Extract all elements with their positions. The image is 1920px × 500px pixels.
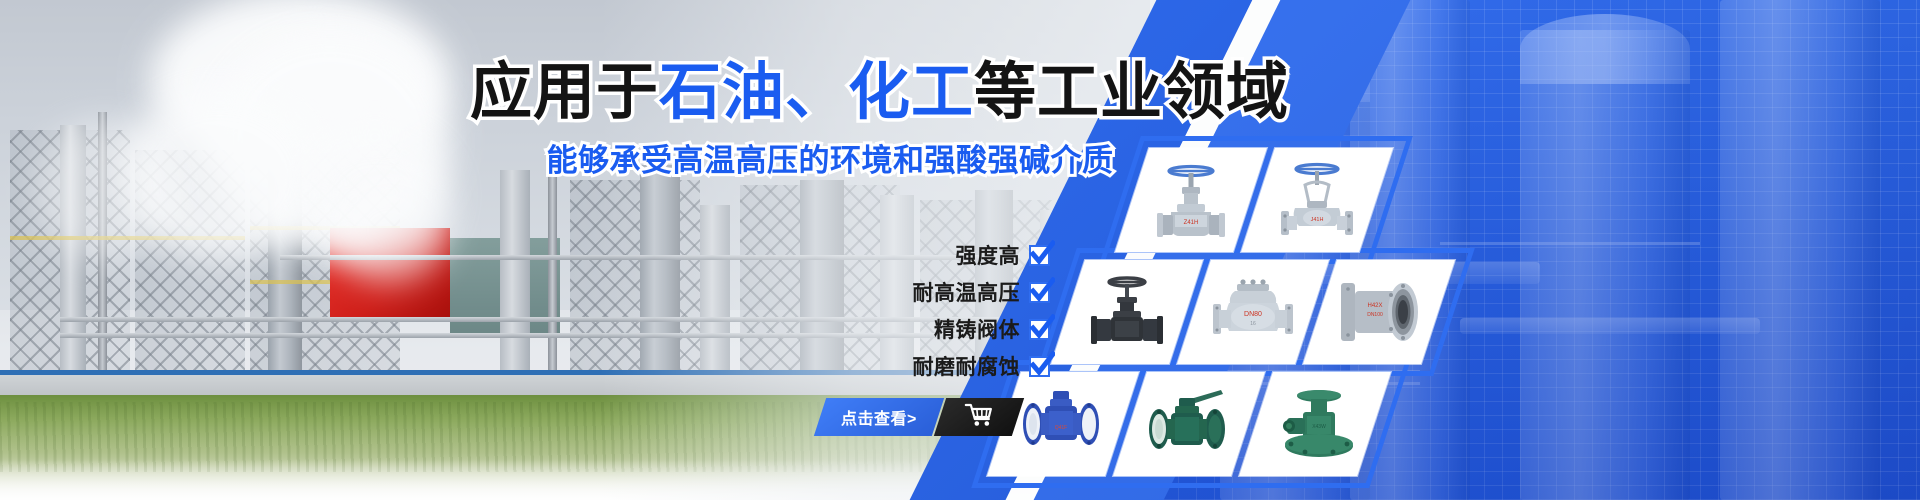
feature-item: 强度高 [820, 240, 1050, 270]
lined-ball-valve-blue-icon: Q41F [1017, 387, 1109, 461]
flanged-plug-valve-green-icon: X43W [1269, 384, 1361, 464]
industrial-valve-banner: 应用于石油、化工等工业领域 能够承受高温高压的环境和强酸强碱介质 强度高 耐高温… [0, 0, 1920, 500]
svg-text:H42X: H42X [1367, 303, 1382, 309]
headline-segment-highlight: 石油、化工 [659, 58, 974, 127]
headline-segment-3: 等工业领域 [974, 58, 1289, 127]
feature-label: 耐高温高压 [913, 277, 1021, 307]
product-cell-globe-valve-flanged[interactable]: J41H [1241, 148, 1393, 252]
cta-label: 点击查看> [841, 405, 917, 429]
svg-text:X43W: X43W [1312, 424, 1326, 430]
product-cell-swing-check-valve[interactable]: DN80 16 [1177, 260, 1329, 364]
flanged-spool-valve-icon: H42X DN100 [1333, 277, 1425, 347]
subtitle: 能够承受高温高压的环境和强酸强碱介质 [470, 135, 1190, 180]
svg-text:DN80: DN80 [1244, 311, 1262, 318]
feature-item: 精铸阀体 [820, 314, 1050, 344]
view-details-button[interactable]: 点击查看> [820, 398, 1018, 436]
product-cell-forged-steel-gate-valve[interactable] [1051, 260, 1203, 364]
checkmark-icon [1029, 245, 1050, 266]
checkmark-icon [1029, 319, 1050, 340]
swing-check-valve-icon: DN80 16 [1207, 272, 1299, 352]
feature-label: 耐磨耐腐蚀 [913, 351, 1021, 381]
checkmark-icon [1029, 356, 1050, 377]
headline-segment-1: 应用于 [470, 58, 659, 127]
forged-steel-gate-valve-icon [1083, 268, 1171, 356]
headline-block: 应用于石油、化工等工业领域 能够承受高温高压的环境和强酸强碱介质 [470, 60, 1190, 180]
product-cell-flanged-spool-valve[interactable]: H42X DN100 [1303, 260, 1455, 364]
product-cell-flanged-plug-valve-green[interactable]: X43W [1239, 372, 1391, 476]
lever-ball-valve-green-icon [1143, 386, 1235, 462]
svg-text:Q41F: Q41F [1055, 425, 1068, 431]
feature-item: 耐高温高压 [820, 277, 1050, 307]
svg-text:Z41H: Z41H [1184, 220, 1199, 226]
svg-text:J41H: J41H [1311, 217, 1324, 223]
cta-label-area[interactable]: 点击查看> [814, 398, 944, 436]
feature-item: 耐磨耐腐蚀 [820, 351, 1050, 381]
feature-list: 强度高 耐高温高压 精铸阀体 耐磨耐腐蚀 [820, 240, 1050, 388]
svg-text:16: 16 [1250, 321, 1256, 327]
feature-label: 强度高 [956, 240, 1021, 270]
feature-label: 精铸阀体 [934, 314, 1020, 344]
svg-text:DN100: DN100 [1367, 312, 1383, 318]
checkmark-icon [1029, 282, 1050, 303]
cart-button-area[interactable] [934, 398, 1024, 436]
product-cell-lever-ball-valve-green[interactable] [1113, 372, 1265, 476]
shopping-cart-icon [964, 402, 994, 433]
page-title: 应用于石油、化工等工业领域 [470, 60, 1190, 125]
globe-valve-flanged-icon: J41H [1273, 156, 1361, 244]
